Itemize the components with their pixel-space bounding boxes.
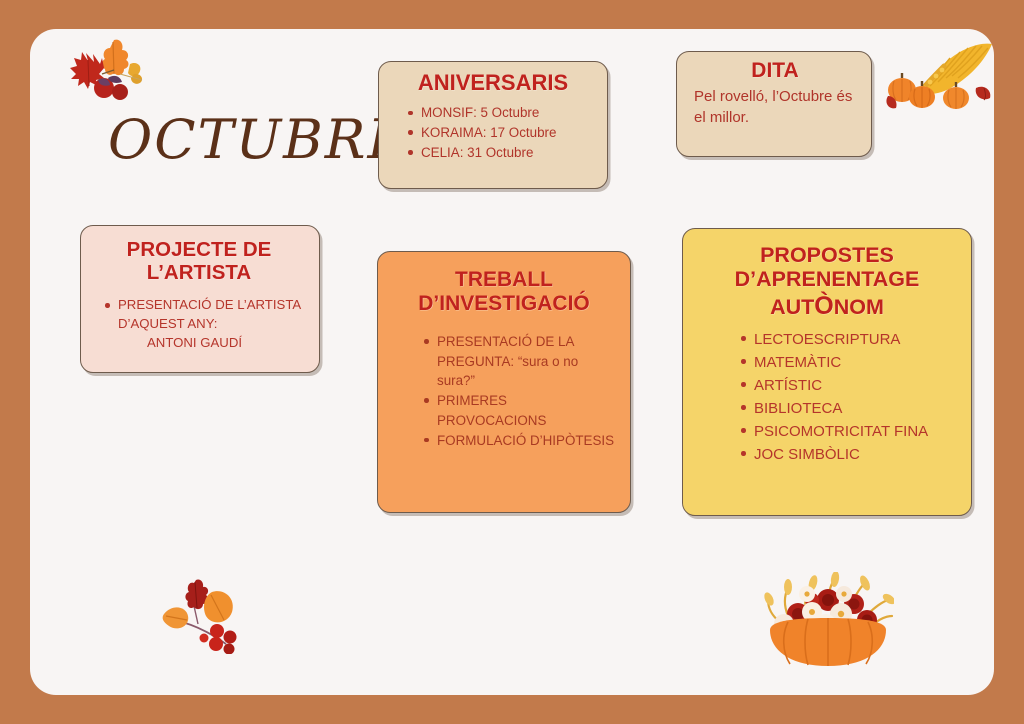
list-item: KORAIMA: 17 Octubre: [406, 124, 593, 141]
list-item: BIBLIOTECA: [739, 398, 957, 421]
list-item: PRESENTACIÓ DE L’ARTISTA D’AQUEST ANY:: [103, 296, 307, 333]
list-item: ANTONI GAUDÍ: [103, 334, 307, 353]
card-treball-list: PRESENTACIÓ DE LA PREGUNTA: “sura o no s…: [422, 332, 616, 450]
leaf-branch-berries-icon: [158, 576, 258, 654]
card-projecte-title: PROJECTE DE L’ARTISTA: [91, 238, 307, 284]
list-item: LECTOESCRIPTURA: [739, 329, 957, 352]
card-treball-title-line2: D’INVESTIGACIÓ: [418, 292, 590, 315]
poster-frame: OCTUBRE ANIVERSARIS MONSIF: 5 Octubre KO…: [0, 0, 1024, 724]
card-projecte-title-line2: L’ARTISTA: [147, 261, 251, 284]
card-propostes-title-line1: PROPOSTES: [760, 243, 894, 267]
card-treball-investigacio: TREBALL D’INVESTIGACIÓ PRESENTACIÓ DE LA…: [377, 251, 631, 513]
card-dita-title: DITA: [694, 59, 856, 83]
card-dita-body: Pel rovelló, l’Octubre és el millor.: [694, 86, 856, 130]
list-item: PRESENTACIÓ DE LA PREGUNTA: “sura o no s…: [422, 332, 616, 390]
card-propostes-list: LECTOESCRIPTURA MATEMÀTIC ARTÍSTIC BIBLI…: [739, 329, 957, 467]
card-projecte-list: PRESENTACIÓ DE L’ARTISTA D’AQUEST ANY: A…: [103, 296, 307, 352]
card-treball-title: TREBALL D’INVESTIGACIÓ: [392, 268, 616, 315]
list-item: MATEMÀTIC: [739, 352, 957, 375]
list-item: PSICOMOTRICITAT FINA: [739, 421, 957, 444]
list-item: JOC SIMBÒLIC: [739, 444, 957, 467]
card-aniversaris: ANIVERSARIS MONSIF: 5 Octubre KORAIMA: 1…: [378, 61, 608, 189]
list-item: ARTÍSTIC: [739, 375, 957, 398]
list-item: FORMULACIÓ D’HIPÒTESIS: [422, 431, 616, 450]
card-projecte-artista: PROJECTE DE L’ARTISTA PRESENTACIÓ DE L’A…: [80, 225, 320, 373]
card-aniversaris-title: ANIVERSARIS: [393, 71, 593, 96]
list-item: PRIMERES PROVOCACIONS: [422, 391, 616, 430]
page-title: OCTUBRE: [108, 108, 409, 171]
card-treball-title-line1: TREBALL: [455, 268, 553, 291]
card-dita: DITA Pel rovelló, l’Octubre és el millor…: [676, 51, 872, 157]
card-propostes-title-line3a: AUT: [770, 295, 814, 319]
card-projecte-title-line1: PROJECTE DE: [127, 238, 272, 261]
autumn-leaves-acorns-icon: [58, 34, 158, 104]
card-propostes-title-line2: D’APRENENTAGE: [735, 267, 920, 291]
card-propostes-title: PROPOSTES D’APRENENTAGE AUTÒNOM: [697, 243, 957, 320]
pumpkin-flower-basket-icon: [762, 572, 894, 668]
card-propostes-aprenentage: PROPOSTES D’APRENENTAGE AUTÒNOM LECTOESC…: [682, 228, 972, 516]
list-item: MONSIF: 5 Octubre: [406, 104, 593, 121]
card-propostes-title-line3c: NOM: [834, 295, 884, 319]
cornucopia-pumpkins-icon: [884, 40, 996, 112]
card-propostes-title-line3b: Ò: [814, 292, 833, 320]
list-item: CELIA: 31 Octubre: [406, 144, 593, 161]
card-aniversaris-list: MONSIF: 5 Octubre KORAIMA: 17 Octubre CE…: [406, 104, 593, 161]
